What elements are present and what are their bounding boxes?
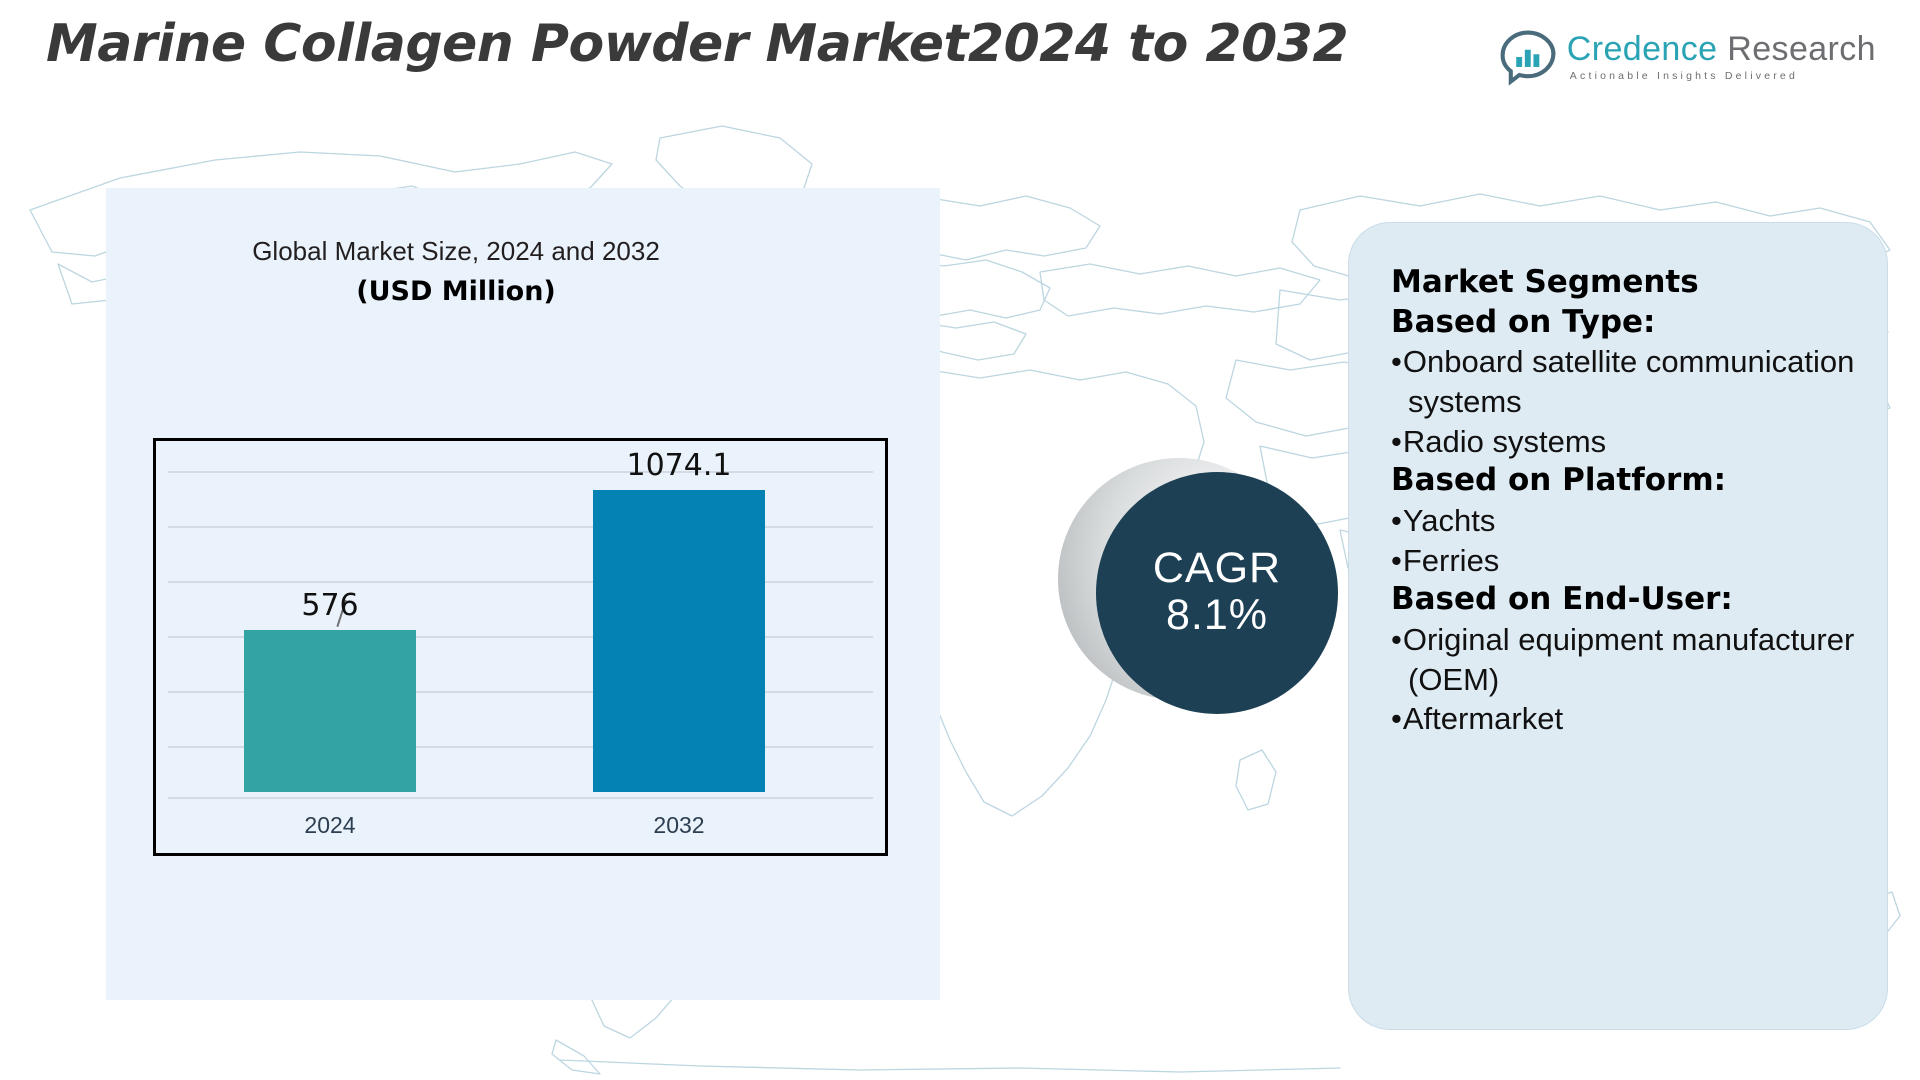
bullet-icon: •	[1391, 503, 1403, 538]
market-size-bar-chart: Global Market Size, 2024 and 2032 (USD M…	[106, 188, 940, 1000]
bar-2032	[593, 490, 765, 792]
segments-heading: Market Segments	[1391, 263, 1861, 303]
header: Marine Collagen Powder Market2024 to 203…	[0, 0, 1920, 110]
segment-item-label: Onboard satellite communication systems	[1403, 344, 1854, 419]
cagr-circle: CAGR 8.1%	[1096, 472, 1338, 714]
cagr-value: 8.1%	[1166, 591, 1268, 640]
segment-item: •Yachts	[1391, 501, 1861, 541]
cagr-label: CAGR	[1153, 546, 1281, 591]
segment-item: •Ferries	[1391, 541, 1861, 581]
bullet-icon: •	[1391, 701, 1403, 736]
segment-item-label: Original equipment manufacturer (OEM)	[1403, 622, 1854, 697]
gridline	[168, 797, 873, 799]
logo-name: Credence Research	[1567, 32, 1876, 66]
company-logo: Credence Research Actionable Insights De…	[1499, 28, 1876, 86]
segment-item: •Original equipment manufacturer (OEM)	[1391, 620, 1861, 699]
gridline	[168, 471, 873, 473]
bullet-icon: •	[1391, 543, 1403, 578]
market-segments-panel: Market Segments Based on Type: •Onboard …	[1348, 222, 1888, 1030]
category-label-2032: 2032	[593, 812, 765, 839]
gridline	[168, 526, 873, 528]
bar-2024	[244, 630, 416, 792]
bar-value-2024: 576	[244, 588, 416, 623]
chart-title: Global Market Size, 2024 and 2032	[106, 236, 806, 267]
segment-item-label: Aftermarket	[1403, 701, 1563, 736]
chart-subtitle: (USD Million)	[106, 276, 806, 307]
cagr-badge: CAGR 8.1%	[1040, 440, 1360, 740]
segment-item: •Aftermarket	[1391, 699, 1861, 739]
segment-item: •Onboard satellite communication systems	[1391, 342, 1861, 421]
segment-item-label: Ferries	[1403, 543, 1499, 578]
logo-tagline: Actionable Insights Delivered	[1567, 71, 1876, 82]
segment-group-title-type: Based on Type:	[1391, 303, 1861, 343]
bar-value-2032: 1074.1	[593, 448, 765, 483]
logo-name-part2: Research	[1727, 30, 1876, 68]
category-label-2024: 2024	[244, 812, 416, 839]
segment-item-label: Yachts	[1403, 503, 1495, 538]
segment-group-title-end-user: Based on End-User:	[1391, 580, 1861, 620]
chart-plot-area: 576 1074.1 2024 2032	[153, 438, 888, 856]
bar-chart-speech-bubble-icon	[1499, 28, 1557, 86]
bullet-icon: •	[1391, 622, 1403, 657]
segment-item: •Radio systems	[1391, 422, 1861, 462]
logo-name-part1: Credence	[1567, 30, 1718, 68]
bullet-icon: •	[1391, 424, 1403, 459]
segment-item-label: Radio systems	[1403, 424, 1606, 459]
bullet-icon: •	[1391, 344, 1403, 379]
gridline	[168, 581, 873, 583]
page-title: Marine Collagen Powder Market2024 to 203…	[46, 14, 1348, 74]
segment-group-title-platform: Based on Platform:	[1391, 461, 1861, 501]
